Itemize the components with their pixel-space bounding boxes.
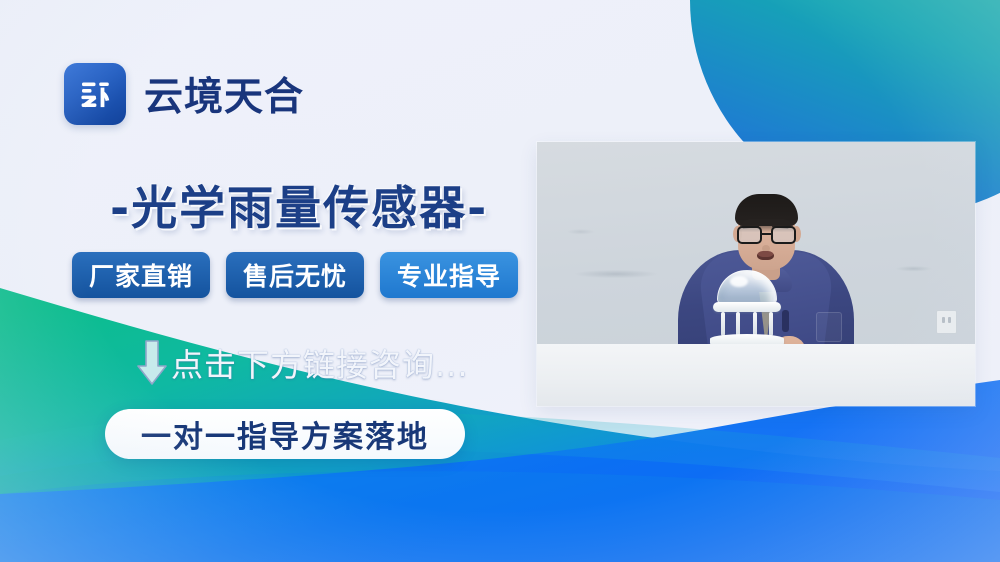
cta-text: 点击下方链接咨询... [171,340,469,386]
promo-poster: 云境天合 -光学雨量传感器- 厂家直销 售后无忧 专业指导 点击下方链接咨询..… [0,0,1000,562]
brand-name: 云境天合 [144,66,304,122]
cloud-mark-icon [64,63,126,125]
presenter-hair [735,194,798,226]
brand-logo: 云境天合 [64,63,304,125]
cta-row: 点击下方链接咨询... [135,338,469,388]
sensor-top-ring [713,302,781,312]
badge-after-sales[interactable]: 售后无忧 [226,252,364,298]
arrow-down-icon [135,338,169,388]
cta-pill-label: 一对一指导方案落地 [141,412,429,456]
sensor-cage-post [721,312,725,336]
glasses-icon [736,226,797,245]
scene-table [537,344,975,406]
feature-badges: 厂家直销 售后无忧 专业指导 [72,252,518,298]
presenter-mouth [757,251,774,260]
cta-pill[interactable]: 一对一指导方案落地 [105,409,465,459]
badge-factory-direct[interactable]: 厂家直销 [72,252,210,298]
glasses-lens-left [737,226,762,244]
presenter-pocket [816,312,842,342]
badge-professional-guidance[interactable]: 专业指导 [380,252,518,298]
sensor-cage-post [753,312,757,336]
sensor-cage-post [769,312,773,336]
wall-outlet-icon [936,310,957,334]
sensor-cage [721,312,773,336]
page-title: -光学雨量传感器- [110,172,488,238]
sensor-dome [717,270,777,304]
glasses-lens-right [771,226,796,244]
product-video-panel[interactable] [537,142,975,406]
glasses-bridge [762,233,771,235]
sensor-cage-post [736,312,740,336]
